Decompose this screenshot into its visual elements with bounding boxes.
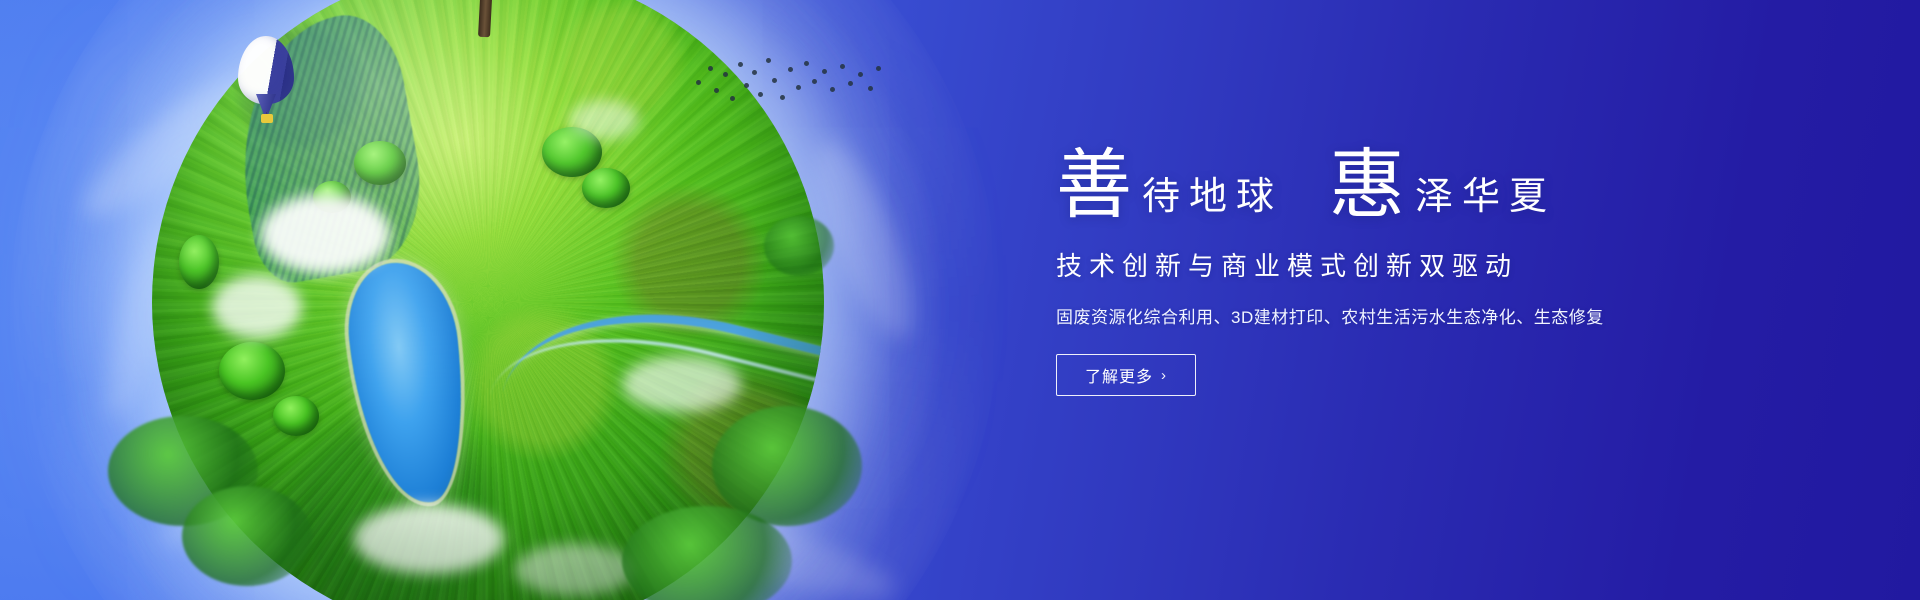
bird-icon: [780, 95, 785, 100]
globe-fringe-tree: [712, 406, 862, 526]
headline-char-hui: 惠: [1329, 148, 1405, 224]
bird-icon: [708, 66, 713, 71]
globe-cloud-patch: [515, 544, 635, 596]
balloon-envelope: [238, 36, 294, 104]
bird-icon: [696, 80, 701, 85]
globe-fringe-tree: [182, 486, 312, 586]
headline-text-daidiqiu: 待地球: [1132, 178, 1283, 216]
bird-icon: [738, 62, 743, 67]
hero-banner: 善 待地球 惠 泽华夏 技术创新与商业模式创新双驱动 固废资源化综合利用、3D建…: [0, 0, 1920, 600]
globe-cloud-patch: [622, 356, 742, 412]
cloud-wisp: [298, 0, 562, 55]
globe-tree-clump: [354, 141, 406, 185]
bird-icon: [788, 67, 793, 72]
chevron-right-icon: ›: [1161, 367, 1167, 384]
bird-icon: [868, 86, 873, 91]
bird-icon: [858, 72, 863, 77]
globe-tree-clump: [219, 342, 285, 400]
bird-icon: [830, 87, 835, 92]
globe-tree-clump: [273, 396, 319, 436]
globe-cloud-patch: [212, 275, 302, 339]
planet-tree-trunk: [478, 0, 494, 38]
globe-tree-clump: [313, 181, 351, 213]
bird-flock: [692, 52, 882, 110]
bird-icon: [822, 69, 827, 74]
learn-more-label: 了解更多: [1085, 363, 1153, 387]
hero-subtitle: 技术创新与商业模式创新双驱动: [1056, 246, 1756, 283]
globe-tree-clump: [582, 168, 630, 208]
globe-river: [481, 275, 824, 567]
bird-icon: [812, 79, 817, 84]
bird-icon: [848, 81, 853, 86]
bird-icon: [772, 78, 777, 83]
bird-icon: [758, 92, 763, 97]
globe-tree-clump: [542, 127, 602, 177]
bird-icon: [752, 70, 757, 75]
bird-icon: [876, 66, 881, 71]
globe-lake: [341, 257, 473, 509]
bird-icon: [723, 72, 728, 77]
cloud-wisp: [798, 131, 932, 348]
bird-icon: [840, 64, 845, 69]
balloon-taper: [256, 94, 276, 114]
learn-more-button[interactable]: 了解更多 ›: [1056, 354, 1196, 396]
cloud-wisp: [598, 480, 902, 600]
bird-icon: [714, 88, 719, 93]
hot-air-balloon-icon: [238, 36, 294, 128]
bird-icon: [766, 58, 771, 63]
headline-text-zehuaxia: 泽华夏: [1405, 178, 1556, 216]
hero-description: 固废资源化综合利用、3D建材打印、农村生活污水生态净化、生态修复: [1056, 303, 1756, 328]
headline-char-shan: 善: [1056, 148, 1132, 224]
globe-fringe-tree: [108, 416, 258, 526]
globe-cloud-patch: [354, 504, 504, 574]
cloud-wisp: [93, 220, 187, 425]
globe-cloud-patch: [260, 194, 390, 274]
bird-icon: [804, 61, 809, 66]
globe-cloud-patch: [569, 100, 639, 140]
cloud-wisp: [149, 427, 390, 563]
globe-tree-clump: [179, 235, 219, 289]
bird-icon: [744, 83, 749, 88]
bird-icon: [730, 96, 735, 101]
background-bloom-inner: [40, 90, 800, 600]
globe-river-highlight: [473, 302, 824, 547]
bird-icon: [796, 85, 801, 90]
globe-fringe-tree: [622, 506, 792, 600]
globe-fringe-tree: [764, 216, 834, 276]
hero-headline: 善 待地球 惠 泽华夏: [1056, 136, 1756, 220]
balloon-basket: [261, 114, 273, 123]
hero-text-block: 善 待地球 惠 泽华夏 技术创新与商业模式创新双驱动 固废资源化综合利用、3D建…: [1056, 136, 1756, 396]
